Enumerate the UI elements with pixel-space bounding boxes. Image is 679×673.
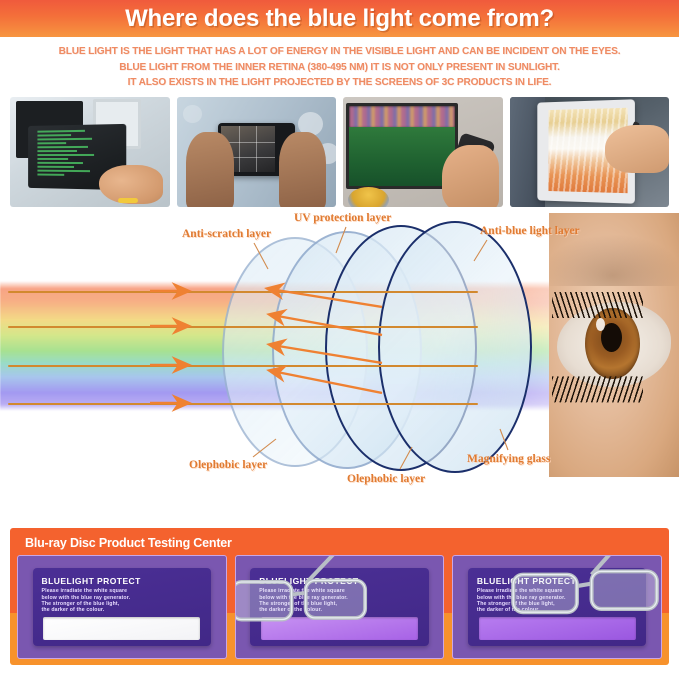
test-panel-with-glasses-1: BLUELIGHT PROTECT Please irradiate the w… [235, 555, 445, 659]
subtitle-line-3: IT ALSO EXISTS IN THE LIGHT PROJECTED BY… [14, 75, 666, 91]
test-panel-no-glasses: BLUELIGHT PROTECT Please irradiate the w… [17, 555, 227, 659]
label-magnifying-glass: Magnifying glass [467, 453, 550, 465]
bluelight-test-card: BLUELIGHT PROTECT Please irradiate the w… [250, 568, 429, 646]
test-swatch [43, 617, 200, 640]
label-oleophobic-layer-2: Olephobic layer [347, 473, 425, 485]
test-panel-with-glasses-2: BLUELIGHT PROTECT Please irradiate the w… [452, 555, 662, 659]
testing-center-title: Blu-ray Disc Product Testing Center [17, 532, 662, 555]
card-title: BLUELIGHT PROTECT [259, 576, 420, 586]
card-body-line-4: the darker of the colour. [259, 607, 420, 613]
laptop-coding-photo [10, 97, 170, 207]
card-title: BLUELIGHT PROTECT [477, 576, 638, 586]
lens-layer-diagram: Anti-scratch layer UV protection layer A… [0, 207, 679, 495]
label-oleophobic-layer-1: Olephobic layer [189, 459, 267, 471]
card-title: BLUELIGHT PROTECT [42, 576, 203, 586]
test-swatch [479, 617, 636, 640]
page-title: Where does the blue light come from? [125, 5, 554, 33]
bluelight-test-card: BLUELIGHT PROTECT Please irradiate the w… [468, 568, 647, 646]
card-body-line-4: the darker of the colour. [477, 607, 638, 613]
tablet-drawing-photo [510, 97, 670, 207]
subtitle-line-1: BLUE LIGHT IS THE LIGHT THAT HAS A LOT O… [14, 44, 666, 60]
label-anti-blue-light-layer: Anti-blue light layer [480, 225, 580, 237]
human-eye-photo [549, 213, 679, 477]
header-banner: Where does the blue light come from? [0, 0, 679, 37]
photo-strip [0, 97, 679, 207]
smartphone-camera-photo [177, 97, 337, 207]
test-panel-row: BLUELIGHT PROTECT Please irradiate the w… [17, 555, 662, 659]
label-anti-scratch-layer: Anti-scratch layer [182, 228, 271, 240]
tv-remote-photo [343, 97, 503, 207]
label-uv-protection-layer: UV protection layer [294, 212, 391, 224]
testing-center-section: Blu-ray Disc Product Testing Center BLUE… [10, 528, 669, 665]
subtitle-block: BLUE LIGHT IS THE LIGHT THAT HAS A LOT O… [0, 37, 679, 97]
subtitle-line-2: BLUE LIGHT FROM THE INNER RETINA (380-49… [14, 60, 666, 76]
bluelight-test-card: BLUELIGHT PROTECT Please irradiate the w… [33, 568, 212, 646]
test-swatch [261, 617, 418, 640]
card-body-line-4: the darker of the colour. [42, 607, 203, 613]
